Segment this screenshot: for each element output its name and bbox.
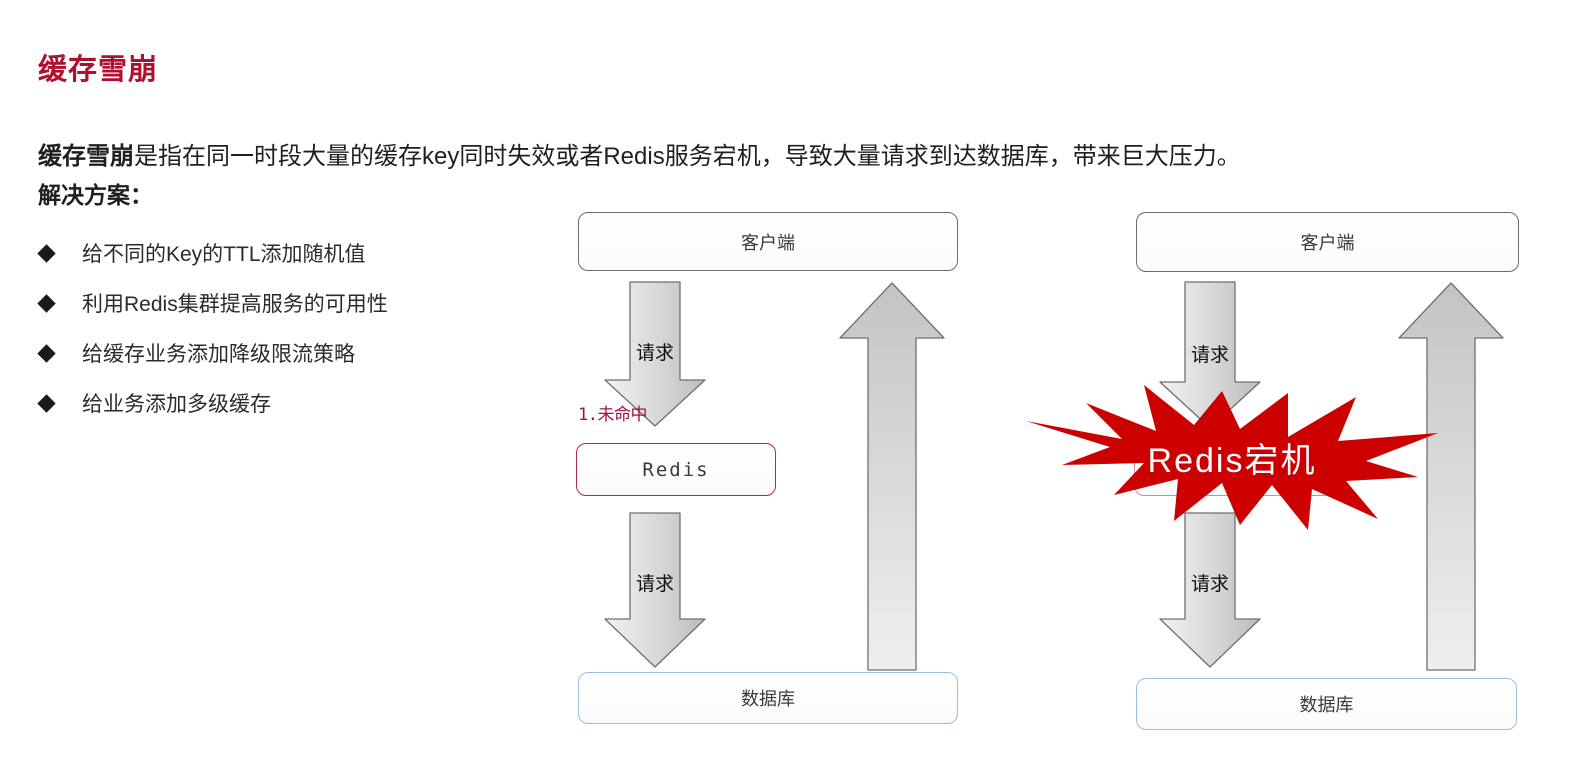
arrow-label-request-2: 请求 [1150, 569, 1270, 596]
list-item-label: 给缓存业务添加降级限流策略 [82, 338, 355, 368]
arrow-up-response [836, 280, 948, 672]
cache-miss-label: 1.未命中 [578, 400, 647, 425]
bullet-diamond-icon [37, 394, 55, 412]
bullet-diamond-icon [37, 344, 55, 362]
arrow-label-request-1: 请求 [595, 338, 715, 365]
bullet-diamond-icon [37, 244, 55, 262]
explosion-star-icon [1026, 385, 1438, 530]
node-database: 数据库 [1136, 678, 1517, 730]
bullet-diamond-icon [37, 294, 55, 312]
arrow-label-request-2: 请求 [595, 569, 715, 596]
list-item: 给不同的Key的TTL添加随机值 [40, 228, 388, 278]
diagram-cache-avalanche: 客户端 请求 请求 Redis宕机 数据库 [1098, 0, 1568, 780]
node-database-label: 数据库 [741, 685, 795, 711]
solution-list: 给不同的Key的TTL添加随机值 利用Redis集群提高服务的可用性 给缓存业务… [40, 228, 388, 428]
node-redis: Redis [576, 443, 776, 496]
node-client: 客户端 [578, 212, 958, 271]
node-database: 数据库 [578, 672, 958, 724]
list-item: 给缓存业务添加降级限流策略 [40, 328, 388, 378]
node-client: 客户端 [1136, 212, 1519, 272]
intro-lead: 缓存雪崩 [38, 143, 134, 170]
node-client-label: 客户端 [1301, 229, 1355, 255]
node-client-label: 客户端 [741, 229, 795, 255]
list-item: 给业务添加多级缓存 [40, 378, 388, 428]
diagram-cache-normal: 客户端 请求 1.未命中 Redis 请求 数据库 [540, 0, 1010, 780]
list-item-label: 利用Redis集群提高服务的可用性 [82, 288, 388, 318]
page-title: 缓存雪崩 [38, 46, 158, 88]
list-item-label: 给不同的Key的TTL添加随机值 [82, 238, 366, 268]
node-redis-label: Redis [642, 459, 709, 481]
explosion-burst: Redis宕机 [1026, 385, 1438, 530]
solutions-heading: 解决方案： [38, 176, 153, 210]
list-item: 利用Redis集群提高服务的可用性 [40, 278, 388, 328]
node-database-label: 数据库 [1300, 691, 1354, 717]
list-item-label: 给业务添加多级缓存 [82, 388, 271, 418]
arrow-label-request-1: 请求 [1150, 340, 1270, 367]
